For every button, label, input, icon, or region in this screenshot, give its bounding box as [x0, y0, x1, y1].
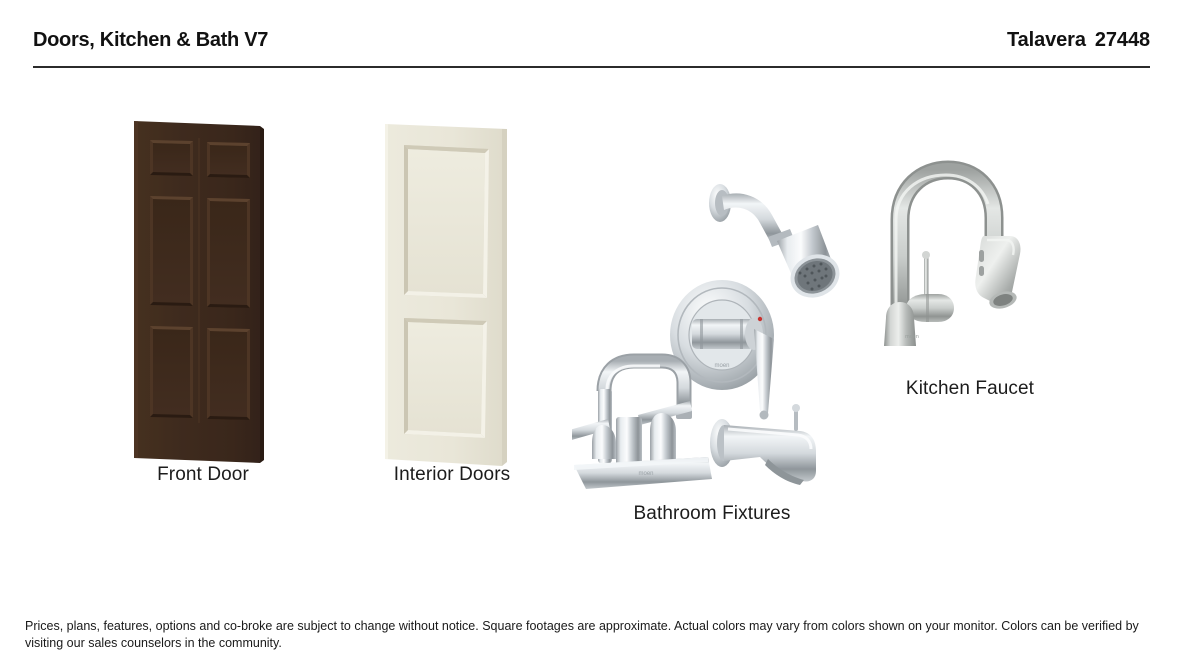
svg-text:moen: moen — [714, 363, 729, 369]
product-label-bathroom-fixtures: Bathroom Fixtures — [572, 503, 852, 525]
header-divider — [33, 66, 1150, 68]
community-name: Talavera — [1007, 29, 1086, 51]
product-label-front-door: Front Door — [103, 464, 303, 486]
product-interior-doors[interactable]: Interior Doors — [352, 118, 552, 538]
product-bathroom-fixtures[interactable]: moen — [572, 163, 852, 543]
product-kitchen-faucet[interactable]: moen Kitchen Faucet — [860, 158, 1080, 418]
page-title: Doors, Kitchen & Bath V7 — [33, 28, 268, 52]
centerset-faucet-icon: moen — [572, 361, 712, 489]
plan-identifier: Talavera27448 — [1007, 28, 1150, 52]
product-gallery: Front Door — [0, 78, 1182, 548]
disclaimer-text: Prices, plans, features, options and co-… — [25, 618, 1145, 652]
pulldown-kitchen-faucet-icon: moen — [860, 158, 1080, 348]
six-panel-door-icon — [103, 118, 303, 478]
bath-fixture-set-icon: moen — [572, 163, 852, 493]
plan-number: 27448 — [1095, 29, 1150, 51]
product-front-door[interactable]: Front Door — [103, 118, 303, 538]
svg-text:moen: moen — [638, 471, 653, 477]
product-label-interior-doors: Interior Doors — [352, 464, 552, 486]
product-label-kitchen-faucet: Kitchen Faucet — [860, 378, 1080, 400]
page-header: Doors, Kitchen & Bath V7 Talavera27448 — [33, 28, 1150, 68]
svg-text:moen: moen — [905, 334, 919, 340]
two-panel-door-icon — [352, 118, 552, 478]
brochure-page: Doors, Kitchen & Bath V7 Talavera27448 — [0, 0, 1182, 665]
